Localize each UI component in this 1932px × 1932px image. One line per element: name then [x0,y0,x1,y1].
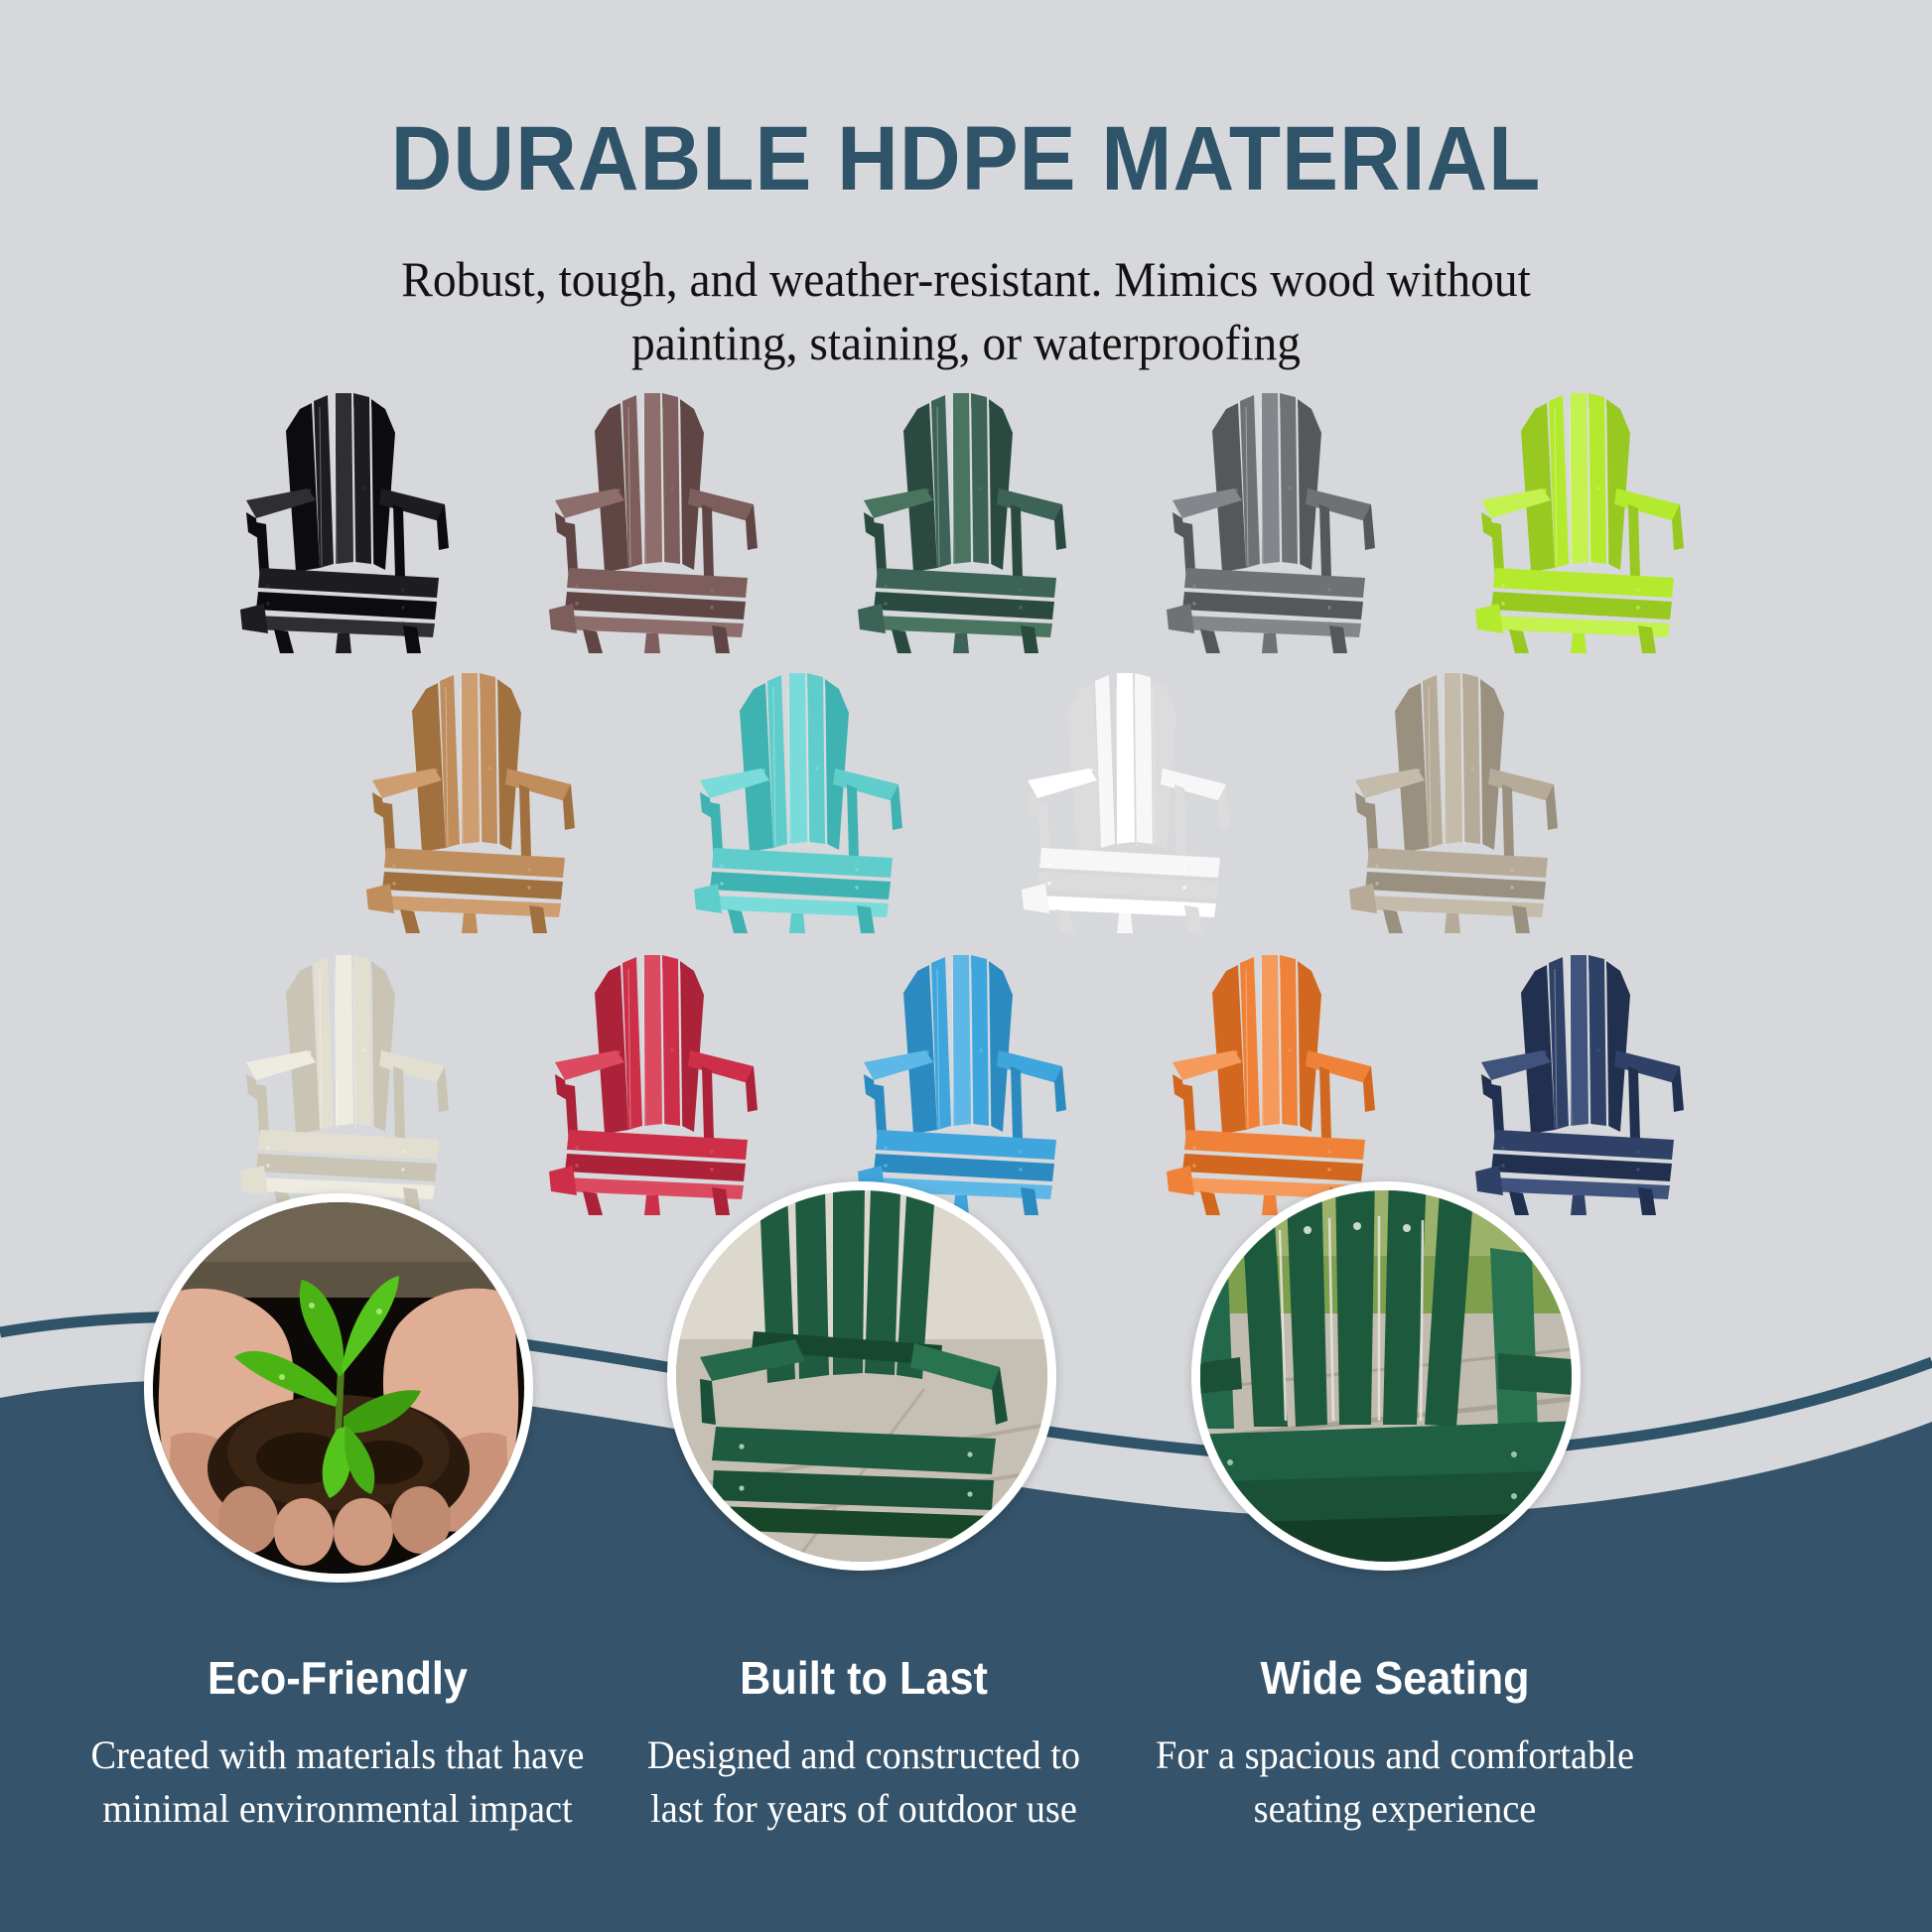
page-subtitle: Robust, tough, and weather-resistant. Mi… [49,247,1884,374]
chair-color-grid [0,369,1932,1243]
chair-swatch-white[interactable] [966,649,1294,937]
page-title: DURABLE HDPE MATERIAL [68,107,1864,211]
feature-text-wide-seating: Wide Seating For a spacious and comforta… [1112,1651,1678,1836]
chair-swatch-light-blue[interactable] [812,931,1121,1219]
feature-desc-built-to-last: Designed and constructed to last for yea… [592,1728,1135,1836]
feature-title-built-to-last: Built to Last [598,1651,1130,1705]
feature-image-wide-seating [1191,1181,1581,1571]
chair-swatch-brown[interactable] [503,369,812,657]
feature-text-eco-friendly: Eco-Friendly Created with materials that… [55,1651,621,1836]
feature-desc-line-2: seating experience [1123,1782,1666,1836]
feature-desc-line-1: Designed and constructed to [592,1728,1135,1782]
feature-desc-wide-seating: For a spacious and comfortable seating e… [1123,1728,1666,1836]
feature-desc-line-2: minimal environmental impact [66,1782,609,1836]
chair-swatch-turquoise[interactable] [638,649,966,937]
subtitle-line-2: painting, staining, or waterproofing [49,311,1884,374]
chair-swatch-ivory[interactable] [195,931,503,1219]
feature-image-built-to-last [667,1181,1056,1571]
feature-desc-line-1: For a spacious and comfortable [1123,1728,1666,1782]
chair-row-2 [0,649,1932,937]
chair-row-1 [0,369,1932,657]
feature-image-eco-friendly [144,1193,533,1583]
feature-desc-line-1: Created with materials that have [66,1728,609,1782]
chair-row-3 [0,931,1932,1219]
subtitle-line-1: Robust, tough, and weather-resistant. Mi… [49,247,1884,311]
feature-text-built-to-last: Built to Last Designed and constructed t… [581,1651,1147,1836]
chair-swatch-lime-green[interactable] [1430,369,1738,657]
feature-desc-line-2: last for years of outdoor use [592,1782,1135,1836]
feature-desc-eco-friendly: Created with materials that have minimal… [66,1728,609,1836]
header-section: DURABLE HDPE MATERIAL Robust, tough, and… [0,0,1932,377]
chair-swatch-orange[interactable] [1121,931,1430,1219]
chair-swatch-teak[interactable] [311,649,638,937]
chair-swatch-red[interactable] [503,931,812,1219]
chair-swatch-khaki[interactable] [1294,649,1621,937]
feature-title-wide-seating: Wide Seating [1129,1651,1661,1705]
chair-swatch-gray[interactable] [1121,369,1430,657]
chair-swatch-black[interactable] [195,369,503,657]
feature-title-eco-friendly: Eco-Friendly [71,1651,604,1705]
chair-swatch-navy-blue[interactable] [1430,931,1738,1219]
chair-swatch-dark-green[interactable] [812,369,1121,657]
